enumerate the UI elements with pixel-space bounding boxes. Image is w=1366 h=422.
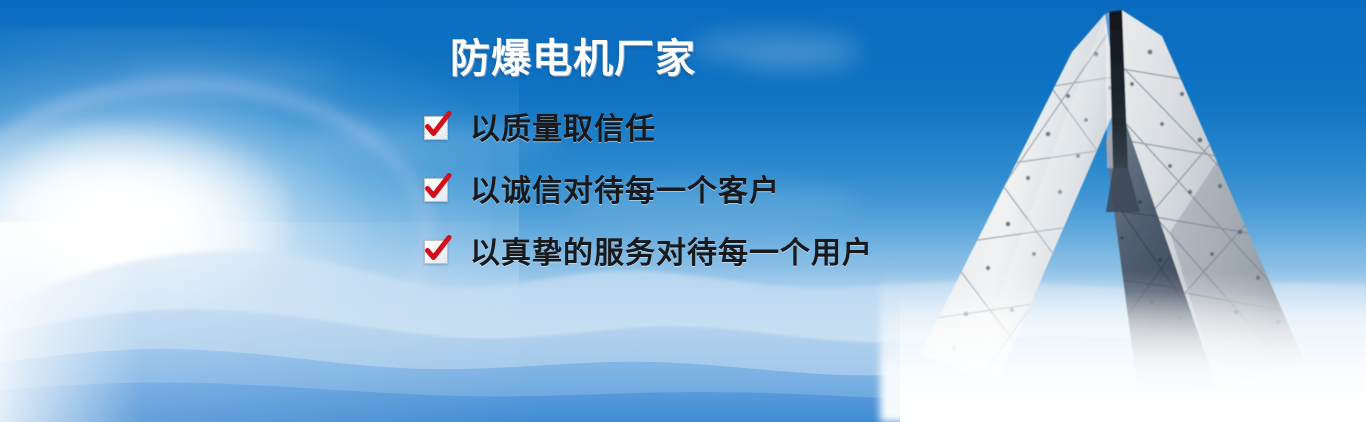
red-check-box-icon xyxy=(422,173,452,203)
list-item-label: 以质量取信任 xyxy=(470,104,656,148)
red-check-box-icon xyxy=(422,235,452,265)
list-item: 以真挚的服务对待每一个用户 xyxy=(422,228,873,272)
red-check-box-icon xyxy=(422,111,452,141)
banner-headline: 防爆电机厂家 xyxy=(450,26,696,84)
list-item-label: 以诚信对待每一个客户 xyxy=(470,166,780,210)
promo-banner: 防爆电机厂家 以质量取信任 以诚信对待每一个客户 xyxy=(0,0,1366,422)
list-item: 以质量取信任 xyxy=(422,104,873,148)
benefit-list: 以质量取信任 以诚信对待每一个客户 以真挚的服务对待 xyxy=(422,104,873,272)
banner-content: 防爆电机厂家 以质量取信任 以诚信对待每一个客户 xyxy=(0,0,1366,422)
list-item: 以诚信对待每一个客户 xyxy=(422,166,873,210)
list-item-label: 以真挚的服务对待每一个用户 xyxy=(470,228,873,272)
